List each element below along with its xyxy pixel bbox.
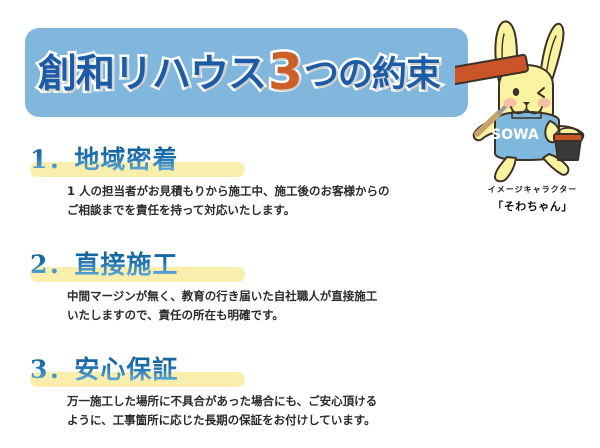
- promise-2-body: 中間マージンが無く、教育の行き届いた自社職人が直接施工 いたしますので、責任の所…: [67, 287, 470, 325]
- mascot-apron-text: SOWA: [491, 127, 539, 143]
- banner-title-part2: つの約束: [304, 46, 440, 97]
- banner-title-part1: 創和リハウス: [38, 43, 266, 99]
- promise-1-body-line-1: 1 人の担当者がお見積もりから施工中、施工後のお客様からの: [67, 182, 470, 201]
- promise-1-heading-row: 1．地域密着: [30, 143, 470, 179]
- mascot-caption: イメージキャラクター 「そわちゃん」: [470, 184, 595, 214]
- promise-item-2: 2．直接施工 中間マージンが無く、教育の行き届いた自社職人が直接施工 いたします…: [30, 248, 470, 325]
- promise-3-heading-row: 3．安心保証: [30, 353, 470, 389]
- promise-3-body-line-2: ように、工事箇所に応じた長期の保証をお付けしています。: [67, 411, 470, 430]
- banner-title: 創和リハウス 3 つの約束: [38, 40, 468, 102]
- promise-3-heading: 3．安心保証: [30, 353, 178, 387]
- promise-item-3: 3．安心保証 万一施工した場所に不具合があった場合にも、ご安心頂ける ように、工…: [30, 353, 470, 430]
- promise-2-body-line-1: 中間マージンが無く、教育の行き届いた自社職人が直接施工: [67, 287, 470, 306]
- promise-3-body: 万一施工した場所に不具合があった場合にも、ご安心頂ける ように、工事箇所に応じた…: [67, 392, 470, 430]
- promise-item-1: 1．地域密着 1 人の担当者がお見積もりから施工中、施工後のお客様からの ご相談…: [30, 143, 470, 220]
- mascot-illustration: SOWA: [455, 8, 600, 188]
- promise-1-body-line-2: ご相談までを責任を持って対応いたします。: [67, 201, 470, 220]
- promise-3-body-line-1: 万一施工した場所に不具合があった場合にも、ご安心頂ける: [67, 392, 470, 411]
- mascot-caption-label: イメージキャラクター: [470, 184, 595, 195]
- promise-2-heading: 2．直接施工: [30, 248, 178, 282]
- banner-title-number: 3: [268, 50, 302, 95]
- promise-2-body-line-2: いたしますので、責任の所在も明確です。: [67, 306, 470, 325]
- mascot-caption-name: 「そわちゃん」: [470, 198, 595, 214]
- promise-1-body: 1 人の担当者がお見積もりから施工中、施工後のお客様からの ご相談までを責任を持…: [67, 182, 470, 220]
- promise-1-heading: 1．地域密着: [30, 143, 178, 177]
- promise-2-heading-row: 2．直接施工: [30, 248, 470, 284]
